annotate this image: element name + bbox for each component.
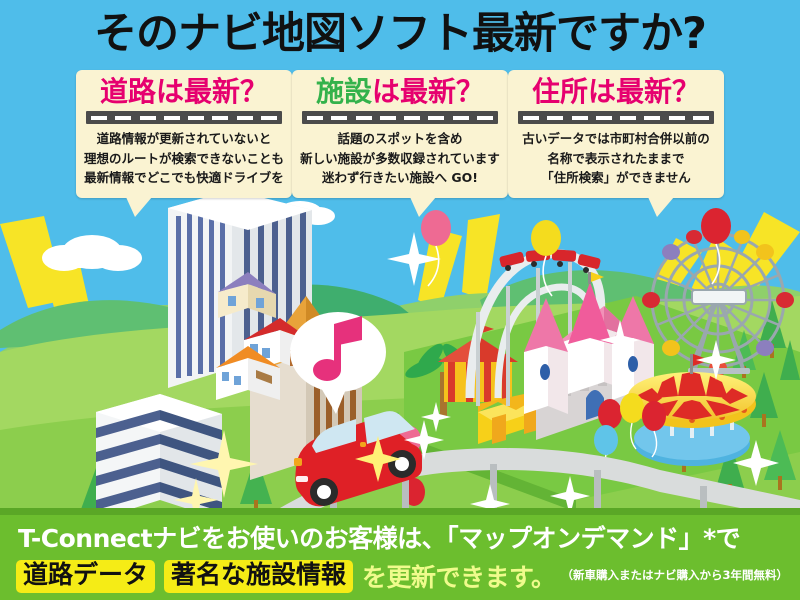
promo-banner-fineprint: （新車購入またはナビ購入から3年間無料） bbox=[562, 567, 789, 586]
callout-group: 道路は最新？ 道路情報が更新されていないと 理想のルートが検索できないことも 最… bbox=[0, 70, 800, 205]
callout-facility: 施設は最新？ 話題のスポットを含め 新しい施設が多数収録されています 迷わず行き… bbox=[292, 70, 508, 198]
promo-banner-line-1: T-Connectナビをお使いのお客様は、「マップオンデマンド」*で bbox=[0, 523, 800, 554]
callout-address-body-line-3: 「住所検索」ができません bbox=[514, 168, 718, 187]
callout-road-body-line-3: 最新情報でどこでも快適ドライブを bbox=[82, 168, 286, 187]
callout-facility-body-line-1: 話題のスポットを含め bbox=[298, 129, 502, 148]
callout-address: 住所は最新？ 古いデータでは市町村合併以前の 名称で表示されたままで 「住所検索… bbox=[508, 70, 724, 198]
chip-road-data: 道路データ bbox=[16, 560, 155, 593]
chip-facility-info: 著名な施設情報 bbox=[164, 560, 353, 593]
promo-banner-update-text: を更新できます。 bbox=[362, 558, 556, 594]
advertisement-banner: そのナビ地図ソフト最新ですか? 道路は最新？ 道路情報が更新されていないと 理想… bbox=[0, 0, 800, 600]
callout-address-body-line-2: 名称で表示されたままで bbox=[514, 149, 718, 168]
callout-road-title-part-1: 道路は bbox=[100, 75, 184, 108]
callout-road-body-line-1: 道路情報が更新されていないと bbox=[82, 129, 286, 148]
promo-banner-line-2: 道路データ 著名な施設情報 を更新できます。 （新車購入またはナビ購入から3年間… bbox=[0, 558, 800, 594]
callout-road-body: 道路情報が更新されていないと 理想のルートが検索できないことも 最新情報でどこで… bbox=[82, 129, 286, 187]
callout-facility-title-part-1: 施設 bbox=[316, 75, 372, 108]
callout-facility-tail bbox=[410, 197, 436, 217]
callout-address-body-line-1: 古いデータでは市町村合併以前の bbox=[514, 129, 718, 148]
callout-facility-title-part-2: は最新？ bbox=[372, 75, 484, 108]
promo-banner: T-Connectナビをお使いのお客様は、「マップオンデマンド」*で 道路データ… bbox=[0, 508, 800, 600]
road-divider-icon bbox=[518, 111, 714, 124]
callout-road-body-line-2: 理想のルートが検索できないことも bbox=[82, 149, 286, 168]
callout-road-title: 道路は最新？ bbox=[82, 77, 286, 107]
callout-road-title-part-2: 最新？ bbox=[184, 75, 268, 108]
callout-facility-body: 話題のスポットを含め 新しい施設が多数収録されています 迷わず行きたい施設へ G… bbox=[298, 129, 502, 187]
callout-road-tail bbox=[126, 197, 152, 217]
callout-facility-title: 施設は最新？ bbox=[298, 77, 502, 107]
road-divider-icon bbox=[302, 111, 498, 124]
callout-facility-body-line-3: 迷わず行きたい施設へ GO! bbox=[298, 168, 502, 187]
page-title: そのナビ地図ソフト最新ですか? bbox=[94, 13, 706, 56]
callout-address-body: 古いデータでは市町村合併以前の 名称で表示されたままで 「住所検索」ができません bbox=[514, 129, 718, 187]
callout-road: 道路は最新？ 道路情報が更新されていないと 理想のルートが検索できないことも 最… bbox=[76, 70, 292, 198]
callout-address-title: 住所は最新？ bbox=[514, 77, 718, 107]
callout-facility-body-line-2: 新しい施設が多数収録されています bbox=[298, 149, 502, 168]
callout-address-title-part-1: 住所は最新？ bbox=[532, 75, 700, 108]
callout-address-tail bbox=[648, 197, 674, 217]
headline-band: そのナビ地図ソフト最新ですか? bbox=[0, 0, 800, 68]
road-divider-icon bbox=[86, 111, 282, 124]
